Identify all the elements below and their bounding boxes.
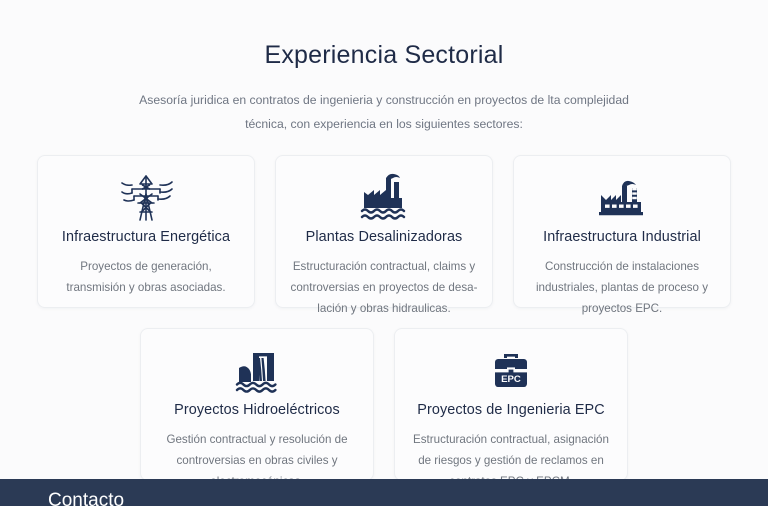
page-title: Experiencia Sectorial (0, 40, 768, 70)
sector-card-infraestructura-energetica[interactable]: Infraestructura Energética Proyectos de … (37, 155, 255, 308)
section-subtitle: Asesoría juridica en contratos de ingeni… (119, 88, 649, 137)
sector-card-title: Infraestructura Energética (62, 228, 230, 247)
experiencia-sectorial-page: Experiencia Sectorial Asesoría juridica … (0, 0, 768, 506)
desalination-plant-icon (356, 172, 412, 224)
sector-card-description: Proyectos de generación, transmisión y o… (52, 256, 240, 298)
footer-heading: Contacto (48, 491, 768, 506)
sector-card-description: Estructuración contractual, claims y con… (290, 256, 478, 319)
sector-card-title: Proyectos de Ingenieria EPC (417, 401, 604, 420)
section-header: Experiencia Sectorial Asesoría juridica … (0, 0, 768, 137)
sector-card-title: Proyectos Hidroeléctricos (174, 401, 340, 420)
svg-text:EPC: EPC (501, 374, 521, 385)
epc-briefcase-icon: EPC (483, 345, 539, 397)
sector-card-description: Construcción de instalaciones industrial… (528, 256, 716, 319)
sector-card-proyectos-ingenieria-epc[interactable]: EPC Proyectos de Ingenieria EPC Estructu… (394, 328, 628, 481)
sector-card-infraestructura-industrial[interactable]: Infraestructura Industrial Construcción … (513, 155, 731, 308)
sector-cards-row-2: Proyectos Hidroeléctricos Gestión contra… (0, 328, 768, 481)
sector-card-title: Plantas Desalinizadoras (306, 228, 463, 247)
footer-band: Contacto (0, 479, 768, 506)
industrial-factory-icon (594, 172, 650, 224)
sector-card-plantas-desalinizadoras[interactable]: Plantas Desalinizadoras Estructuración c… (275, 155, 493, 308)
transmission-tower-icon (118, 172, 174, 224)
sector-cards-row-1: Infraestructura Energética Proyectos de … (0, 155, 768, 308)
hydroelectric-dam-icon (229, 345, 285, 397)
sector-card-title: Infraestructura Industrial (543, 228, 701, 247)
footer-inner: Contacto (0, 479, 768, 506)
sector-card-proyectos-hidroelectricos[interactable]: Proyectos Hidroeléctricos Gestión contra… (140, 328, 374, 481)
